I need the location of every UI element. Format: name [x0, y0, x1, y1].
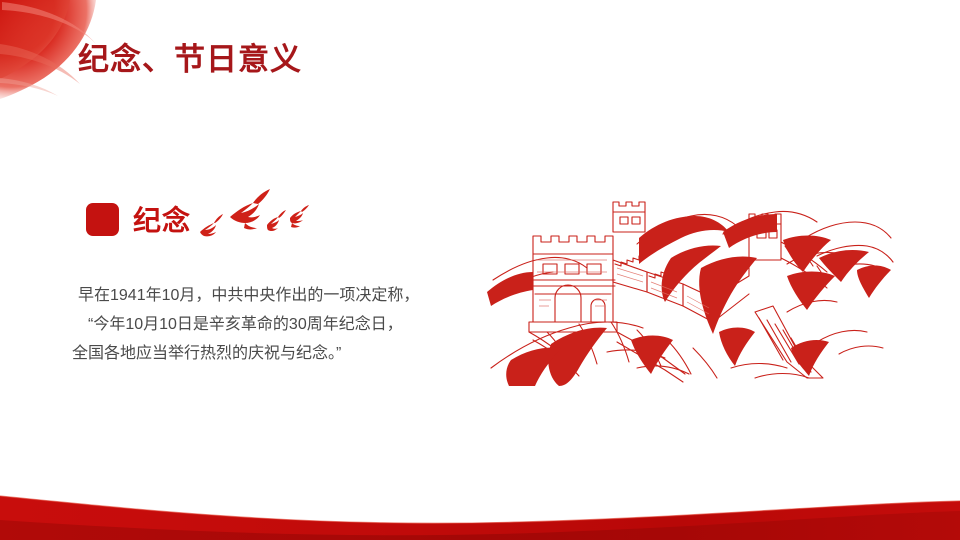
- red-square-bullet-icon: [86, 203, 119, 236]
- section-heading-label: 纪念: [133, 199, 191, 239]
- body-line: “今年10月10日是辛亥革命的30周年纪念日，: [66, 310, 476, 339]
- body-paragraph: 早在1941年10月，中共中央作出的一项决定称， “今年10月10日是辛亥革命的…: [66, 281, 476, 368]
- red-wave-ribbon-icon: [0, 470, 960, 540]
- body-line: 全国各地应当举行热烈的庆祝与纪念。”: [66, 339, 476, 368]
- body-line: 早在1941年10月，中共中央作出的一项决定称，: [66, 281, 476, 310]
- great-wall-illustration-icon: [487, 172, 897, 390]
- section-heading: 纪念: [86, 196, 313, 242]
- presentation-slide: 纪念、节日意义 纪念: [0, 0, 960, 540]
- page-title: 纪念、节日意义: [78, 34, 302, 79]
- flying-doves-icon: [197, 187, 313, 239]
